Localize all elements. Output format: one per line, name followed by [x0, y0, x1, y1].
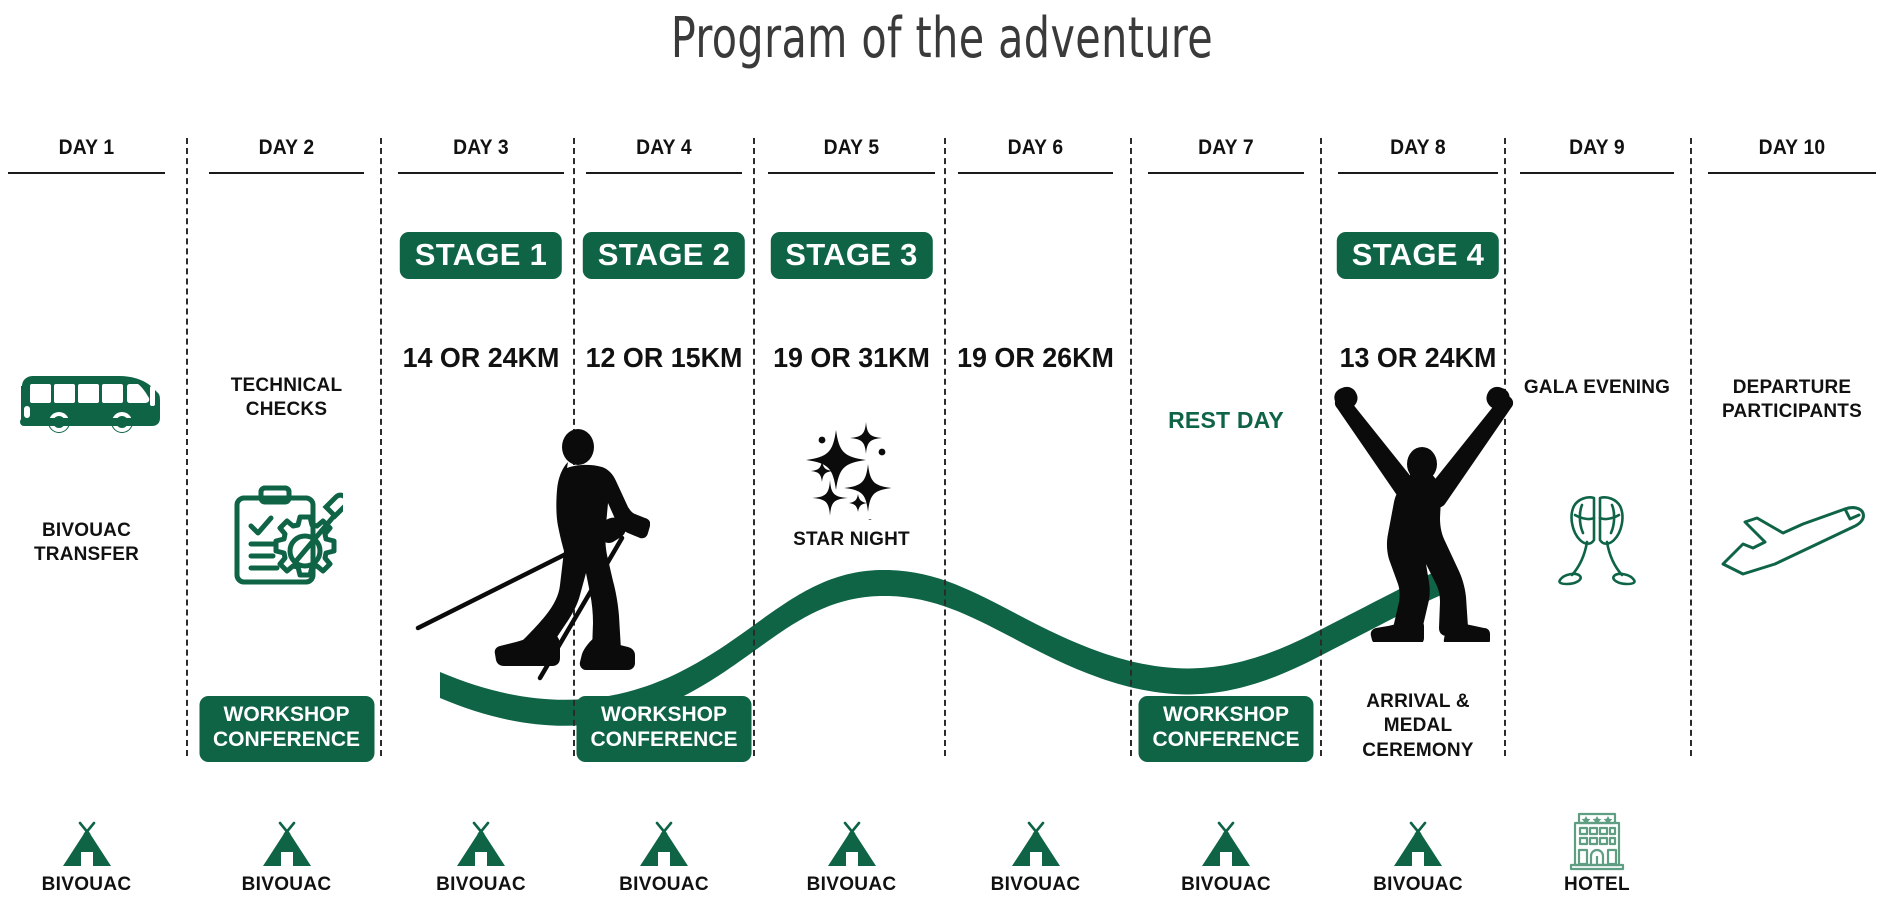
day-rule	[1520, 172, 1674, 174]
champagne-glasses-icon	[1542, 480, 1652, 592]
clipboard-gear-icon	[231, 480, 343, 588]
tent-icon	[450, 818, 512, 872]
day-rule	[398, 172, 564, 174]
stage-badge[interactable]: STAGE 4	[1337, 232, 1499, 279]
day-column-7: DAY 7 REST DAY WORKSHOP CONFERENCE BIVOU…	[1140, 0, 1312, 906]
stage-distance: 13 OR 24KM	[1334, 342, 1503, 374]
day-caption: STAR NIGHT	[760, 528, 943, 552]
finisher-runner-icon	[1322, 382, 1522, 642]
day-columns: DAY 1	[0, 0, 1884, 906]
marker-label: BIVOUAC	[956, 874, 1116, 896]
day-label: DAY 4	[585, 136, 743, 160]
stage-distance: 19 OR 31KM	[764, 342, 940, 374]
program-infographic: Program of the adventure DAY 1	[0, 0, 1884, 906]
day-column-5: DAY 5 STAGE 3 19 OR 31KM	[760, 0, 943, 906]
day-caption: REST DAY	[1140, 406, 1312, 435]
separator-2	[380, 138, 382, 756]
day-rule	[1708, 172, 1876, 174]
stage-distance: 14 OR 24KM	[394, 342, 569, 374]
day-caption: GALA EVENING	[1512, 376, 1682, 400]
day-column-2: DAY 2 TECHNICAL CHECKS	[201, 0, 372, 906]
marker-label: BIVOUAC	[772, 874, 932, 896]
day-rule	[586, 172, 742, 174]
airplane-icon	[1717, 500, 1867, 580]
tent-icon	[1387, 818, 1449, 872]
separator-9	[1690, 138, 1692, 756]
tent-icon	[1005, 818, 1067, 872]
day-label: DAY 2	[208, 136, 365, 160]
hotel-icon	[1567, 810, 1627, 872]
tent-icon	[256, 818, 318, 872]
tent-icon	[821, 818, 883, 872]
stage-distance: 12 OR 15KM	[581, 342, 746, 374]
day-column-9: DAY 9 GALA EVENING	[1512, 0, 1682, 906]
separator-1	[186, 138, 188, 756]
bottom-marker-bivouac: BIVOUAC	[207, 818, 367, 896]
bottom-marker-bivouac: BIVOUAC	[772, 818, 932, 896]
separator-6	[1130, 138, 1132, 756]
day-caption: BIVOUAC TRANSFER	[0, 519, 173, 568]
day-label: DAY 10	[1707, 136, 1876, 160]
stage-badge[interactable]: STAGE 3	[770, 232, 932, 279]
hiker-icon	[400, 420, 650, 690]
day-column-10: DAY 10 DEPARTURE PARTICIPANTS	[1700, 0, 1884, 906]
separator-4	[753, 138, 755, 756]
bottom-marker-bivouac: BIVOUAC	[401, 818, 561, 896]
bottom-marker-bivouac: BIVOUAC	[956, 818, 1116, 896]
day-label: DAY 6	[957, 136, 1114, 160]
tent-icon	[633, 818, 695, 872]
marker-label: HOTEL	[1517, 874, 1677, 896]
day-label: DAY 1	[7, 136, 166, 160]
day-label: DAY 7	[1147, 136, 1305, 160]
marker-label: BIVOUAC	[207, 874, 367, 896]
bus-icon	[14, 372, 160, 434]
tent-icon	[1195, 818, 1257, 872]
day-label: DAY 8	[1337, 136, 1499, 160]
stage-badge[interactable]: STAGE 1	[400, 232, 562, 279]
workshop-badge[interactable]: WORKSHOP CONFERENCE	[1138, 696, 1313, 762]
day-label: DAY 9	[1519, 136, 1675, 160]
marker-label: BIVOUAC	[7, 874, 167, 896]
workshop-badge[interactable]: WORKSHOP CONFERENCE	[199, 696, 374, 762]
bottom-marker-hotel: HOTEL	[1517, 810, 1677, 896]
day-rule	[958, 172, 1113, 174]
day-caption: DEPARTURE PARTICIPANTS	[1700, 376, 1884, 425]
marker-label: BIVOUAC	[401, 874, 561, 896]
day-column-1: DAY 1	[0, 0, 173, 906]
day-label: DAY 3	[397, 136, 564, 160]
marker-label: BIVOUAC	[584, 874, 744, 896]
marker-label: BIVOUAC	[1146, 874, 1306, 896]
day-rule	[209, 172, 364, 174]
stage-badge[interactable]: STAGE 2	[583, 232, 745, 279]
day-label: DAY 5	[767, 136, 935, 160]
sparkle-stars-icon	[800, 412, 904, 520]
bottom-marker-bivouac: BIVOUAC	[1338, 818, 1498, 896]
bottom-marker-bivouac: BIVOUAC	[584, 818, 744, 896]
day-caption: ARRIVAL & MEDAL CEREMONY	[1330, 690, 1506, 763]
day-column-6: DAY 6 19 OR 26KM BIVOUAC	[950, 0, 1121, 906]
bottom-marker-bivouac: BIVOUAC	[7, 818, 167, 896]
day-rule	[1148, 172, 1304, 174]
day-rule	[8, 172, 165, 174]
bottom-marker-bivouac: BIVOUAC	[1146, 818, 1306, 896]
separator-5	[944, 138, 946, 756]
stage-distance: 19 OR 26KM	[953, 342, 1117, 374]
day-rule	[1338, 172, 1498, 174]
day-caption: TECHNICAL CHECKS	[201, 374, 372, 423]
tent-icon	[56, 818, 118, 872]
day-rule	[768, 172, 935, 174]
workshop-badge[interactable]: WORKSHOP CONFERENCE	[576, 696, 751, 762]
marker-label: BIVOUAC	[1338, 874, 1498, 896]
